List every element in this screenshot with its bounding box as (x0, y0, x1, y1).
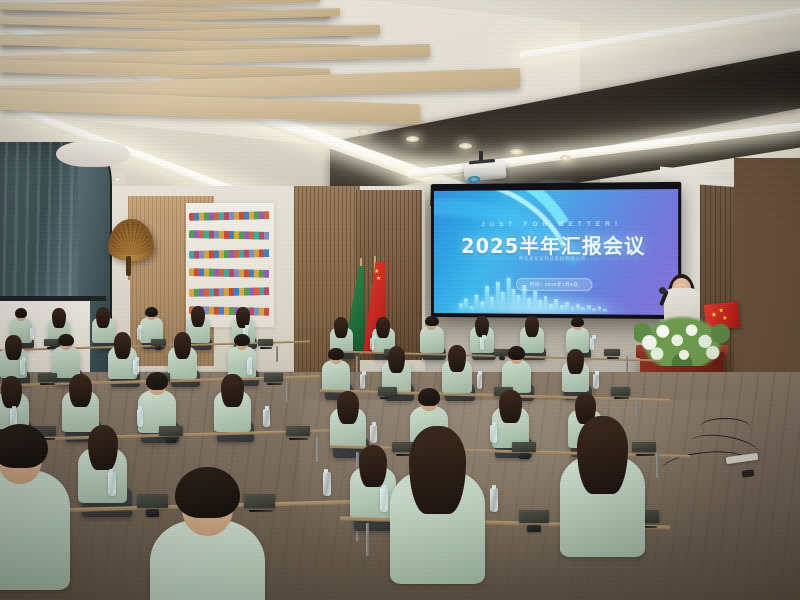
smartphone[interactable] (499, 356, 506, 360)
desk-leg (276, 346, 278, 363)
person-hair-long (221, 374, 244, 408)
glass-mullion (0, 296, 106, 301)
water-bottle[interactable] (477, 374, 482, 389)
person-hair-short (571, 317, 584, 327)
water-bottle[interactable] (108, 472, 117, 497)
notebook[interactable] (512, 442, 536, 452)
notebook[interactable] (286, 426, 310, 436)
person-hair-long (52, 308, 66, 328)
notebook[interactable] (378, 387, 397, 395)
person-hair-long (525, 316, 540, 338)
pen[interactable] (636, 454, 655, 457)
notebook[interactable] (258, 339, 273, 346)
pen[interactable] (289, 438, 308, 441)
person-hair-long (96, 307, 110, 328)
notebook[interactable] (151, 339, 166, 346)
pen[interactable] (260, 347, 272, 350)
notebook[interactable] (604, 349, 619, 356)
person-hair-long (409, 426, 466, 513)
person-torso (420, 326, 444, 353)
water-bottle[interactable] (590, 338, 594, 350)
person-hair-long (376, 317, 390, 338)
decorative-fan-handle (126, 256, 131, 276)
person-hair-long (334, 317, 348, 338)
person-torso (322, 360, 350, 392)
downlight-icon (406, 136, 419, 142)
person-hair-long (567, 349, 584, 374)
smartphone[interactable] (146, 509, 159, 517)
photo-board-card (264, 249, 269, 257)
photo-board-card (264, 308, 269, 316)
pen[interactable] (40, 383, 55, 386)
screen-content: JUST FOR BETTER! 2025半年汇报会议 青岛某某某科技股份有限公… (434, 189, 678, 315)
projection-screen[interactable]: JUST FOR BETTER! 2025半年汇报会议 青岛某某某科技股份有限公… (431, 182, 681, 319)
person-hair-long (191, 306, 206, 328)
slide-date-pill: 时间：2025年7月8日 (516, 278, 592, 291)
person-hair-long (359, 445, 387, 487)
smartphone[interactable] (519, 453, 529, 459)
smartphone[interactable] (155, 346, 162, 350)
notebook[interactable] (38, 373, 57, 381)
person-hair-short (425, 316, 439, 327)
desk-leg (316, 436, 319, 462)
person-hair-short (328, 348, 344, 361)
person-hair-long (499, 390, 522, 424)
ceiling-spotlight (113, 177, 122, 182)
water-bottle[interactable] (370, 425, 377, 444)
pen[interactable] (607, 357, 619, 360)
photo-board-row (189, 287, 271, 297)
water-bottle[interactable] (30, 328, 34, 340)
pen[interactable] (614, 397, 629, 400)
person-hair-short (146, 372, 168, 389)
water-bottle[interactable] (370, 338, 374, 350)
water-bottle[interactable] (137, 409, 144, 428)
person-hair-short (15, 308, 28, 318)
desk-leg (636, 396, 638, 416)
water-bottle[interactable] (480, 338, 484, 350)
notebook[interactable] (159, 426, 183, 436)
person-hair-short (58, 334, 74, 347)
person-hair-long (69, 374, 92, 408)
desk-leg (366, 523, 369, 556)
notebook[interactable] (611, 387, 630, 395)
pen[interactable] (380, 397, 395, 400)
person-hair-long (114, 332, 132, 358)
downlight-icon (459, 143, 472, 149)
smartphone[interactable] (166, 437, 176, 443)
desk-leg (356, 356, 358, 373)
person-hair-long (5, 335, 22, 360)
skyline-glow (444, 291, 632, 315)
person-hair-long (88, 425, 118, 470)
person-hair-short (418, 388, 440, 405)
person-hair-short (508, 346, 525, 359)
person-hair-long (337, 391, 359, 424)
downlight-icon (510, 149, 523, 155)
photo-board-card (264, 270, 269, 278)
slide-subtitle: 青岛某某某科技股份有限公司 (434, 256, 674, 262)
desk-leg (656, 452, 659, 478)
water-bottle[interactable] (593, 374, 598, 389)
conference-room-photo: JUST FOR BETTER! 2025半年汇报会议 青岛某某某科技股份有限公… (0, 0, 800, 600)
person-hair-short (234, 334, 250, 347)
person-hair-long (1, 376, 23, 408)
downlight-icon (358, 128, 371, 134)
photo-board-row (189, 249, 271, 259)
downlight-icon (560, 155, 571, 161)
person-hair-long (388, 346, 406, 372)
water-bottle[interactable] (247, 360, 252, 375)
person-torso-foreground (0, 470, 70, 590)
photo-board-row (189, 268, 271, 278)
smartphone[interactable] (527, 525, 540, 533)
notebook[interactable] (137, 494, 168, 507)
water-bottle[interactable] (323, 472, 332, 497)
photo-board-row (189, 211, 271, 221)
desk-leg (286, 382, 288, 402)
water-bottle[interactable] (137, 328, 141, 340)
water-bottle[interactable] (490, 488, 498, 512)
slide-tagline: JUST FOR BETTER! (434, 221, 672, 229)
microphone-head (659, 287, 666, 294)
water-bottle[interactable] (380, 488, 388, 512)
person-hair-long (174, 332, 192, 358)
person-hair-long (448, 345, 466, 372)
water-bottle[interactable] (360, 374, 365, 389)
photo-board-row (189, 230, 271, 240)
notebook[interactable] (264, 373, 283, 381)
water-bottle[interactable] (490, 425, 497, 444)
water-bottle[interactable] (133, 360, 138, 375)
person-hair-short (175, 467, 239, 518)
notebook[interactable] (244, 494, 275, 507)
person-hair-short (145, 307, 158, 317)
flower-arrangement (634, 310, 730, 366)
person-hair-long (577, 416, 628, 494)
slide-title: 2025半年汇报会议 (434, 230, 674, 259)
water-bottle[interactable] (263, 409, 270, 428)
notebook[interactable] (632, 442, 656, 452)
glass-partition-cap (56, 141, 130, 167)
floor-cable (700, 418, 750, 436)
photo-board-card (264, 232, 269, 240)
water-bottle[interactable] (20, 360, 25, 375)
notebook[interactable] (519, 510, 550, 523)
desk-leg (626, 356, 628, 373)
person-hair-long (475, 316, 490, 338)
pen[interactable] (267, 383, 282, 386)
photo-board-card (264, 287, 269, 295)
photo-board-card (264, 211, 269, 219)
